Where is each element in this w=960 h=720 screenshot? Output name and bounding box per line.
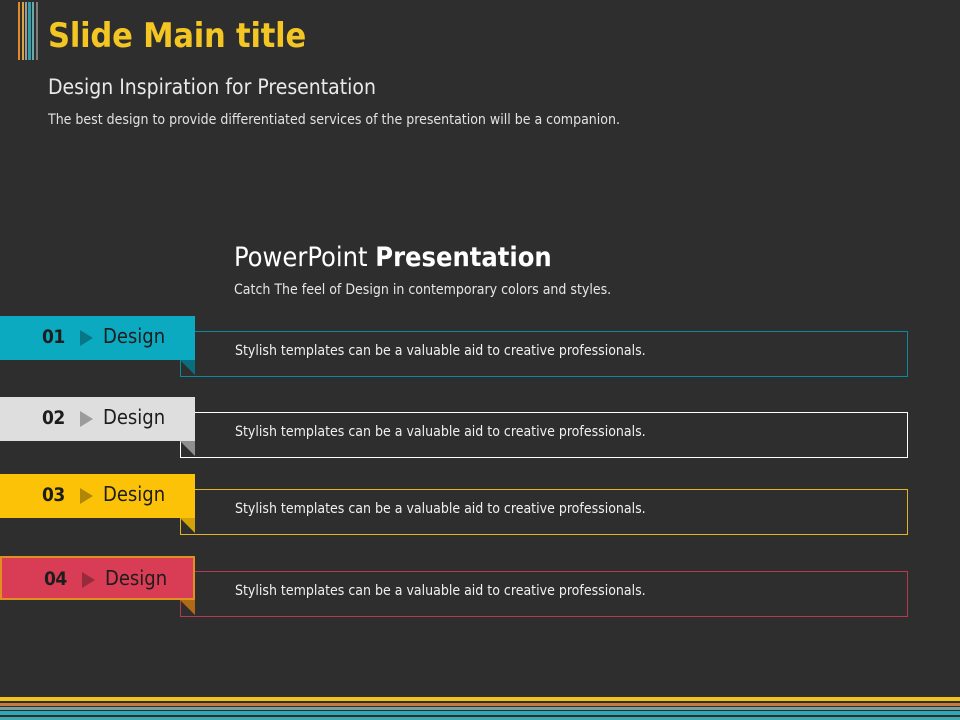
row-description-box: Stylish templates can be a valuable aid … [180, 331, 908, 377]
slide-canvas: Slide Main title Design Inspiration for … [0, 0, 960, 720]
row-number: 04 [44, 568, 67, 590]
row-description-box: Stylish templates can be a valuable aid … [180, 412, 908, 458]
row-fold-triangle [180, 441, 195, 456]
row-tab[interactable]: 04Design [0, 556, 195, 600]
row-tab[interactable]: 01Design [0, 316, 195, 360]
play-triangle-icon [80, 411, 93, 427]
row-description-text: Stylish templates can be a valuable aid … [235, 501, 646, 517]
row-label: Design [105, 566, 167, 590]
row-description-text: Stylish templates can be a valuable aid … [235, 424, 646, 440]
row-label: Design [103, 405, 165, 429]
row-label: Design [103, 324, 165, 348]
row-tab[interactable]: 02Design [0, 397, 195, 441]
row-description-text: Stylish templates can be a valuable aid … [235, 583, 646, 599]
design-row-list: Stylish templates can be a valuable aid … [0, 0, 960, 720]
bottom-stripe-decoration [0, 693, 960, 720]
row-label: Design [103, 482, 165, 506]
row-fold-triangle [180, 360, 195, 375]
play-triangle-icon [80, 488, 93, 504]
row-tab[interactable]: 03Design [0, 474, 195, 518]
row-number: 02 [42, 407, 65, 429]
play-triangle-icon [80, 330, 93, 346]
row-number: 01 [42, 326, 65, 348]
design-row[interactable]: Stylish templates can be a valuable aid … [0, 556, 960, 656]
row-description-box: Stylish templates can be a valuable aid … [180, 489, 908, 535]
play-triangle-icon [82, 572, 95, 588]
row-fold-triangle [180, 600, 195, 615]
row-fold-triangle [180, 518, 195, 533]
row-number: 03 [42, 484, 65, 506]
row-description-text: Stylish templates can be a valuable aid … [235, 343, 646, 359]
row-description-box: Stylish templates can be a valuable aid … [180, 571, 908, 617]
